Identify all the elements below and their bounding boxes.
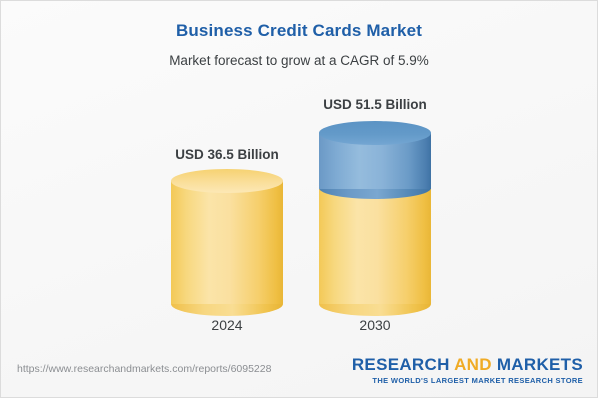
bar-value-label-2024: USD 36.5 Billion [107,147,347,162]
cylinder-body-gold [171,181,283,304]
source-url[interactable]: https://www.researchandmarkets.com/repor… [17,363,271,375]
brand-name: RESEARCH AND MARKETS [352,355,583,375]
bar-value-label-2030: USD 51.5 Billion [255,97,495,112]
cylinder-top-ellipse-blue [319,121,431,145]
brand-name-markets: MARKETS [497,355,583,374]
category-label-2024: 2024 [171,317,283,333]
cylinder-top-ellipse-gold [171,169,283,193]
market-forecast-infographic: Business Credit Cards Market Market fore… [0,0,598,398]
footer: https://www.researchandmarkets.com/repor… [1,349,598,397]
plot-area: USD 36.5 Billion 2024 USD 51.5 Billion 2… [1,1,598,398]
brand-tagline: THE WORLD'S LARGEST MARKET RESEARCH STOR… [352,376,583,385]
brand-name-and: AND [454,355,492,374]
category-label-2030: 2030 [319,317,431,333]
cylinder-body-gold-segment [319,187,431,304]
brand-logo: RESEARCH AND MARKETS THE WORLD'S LARGEST… [352,355,583,385]
brand-name-research: RESEARCH [352,355,450,374]
